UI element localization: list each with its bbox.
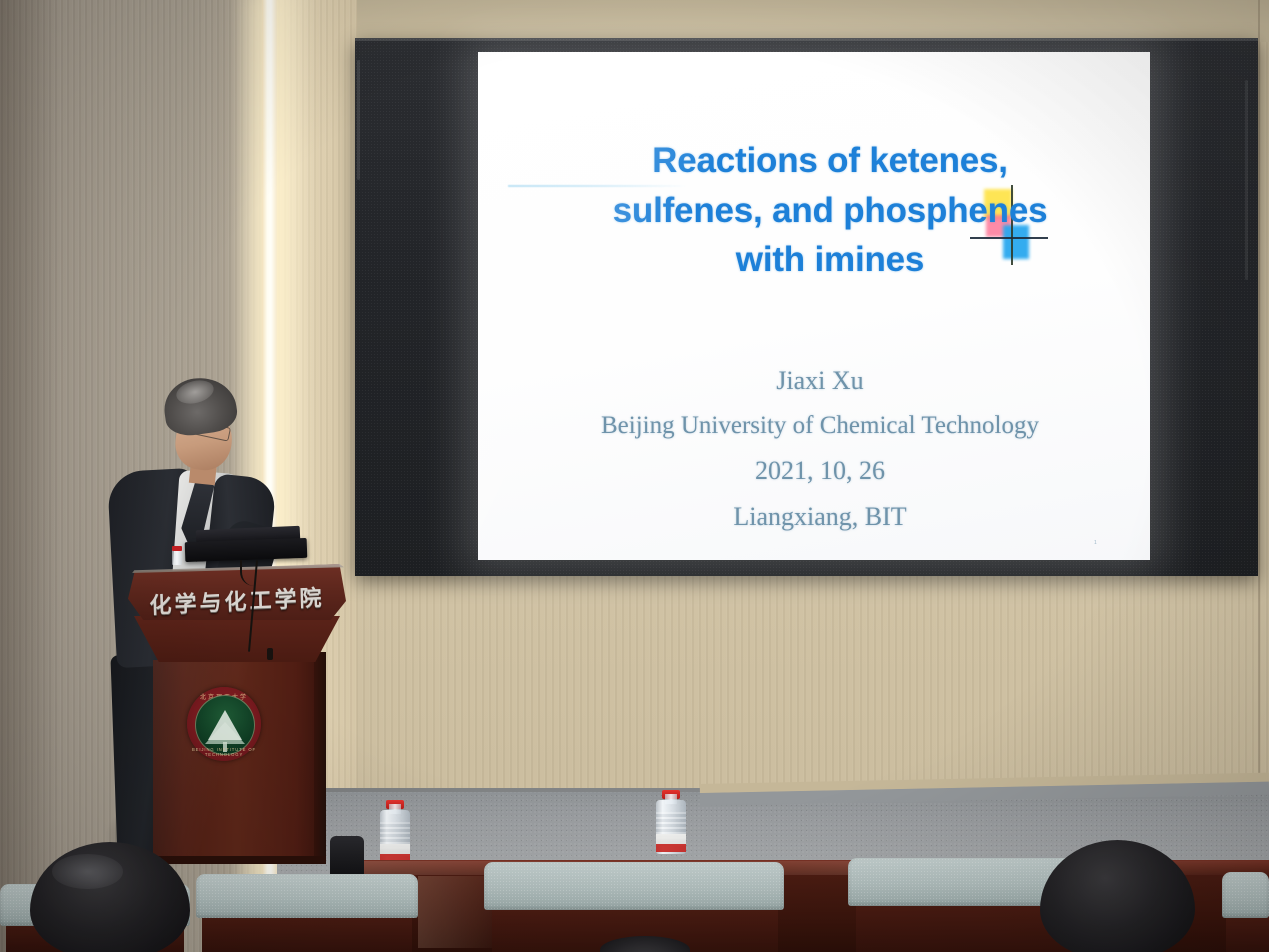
audience-chair-back (196, 874, 418, 918)
emblem-inner-field (195, 695, 255, 755)
podium-base-foot (153, 856, 326, 864)
bezel-right-highlight (1245, 80, 1248, 280)
slide-affiliation: Beijing University of Chemical Technolog… (520, 404, 1120, 448)
audience-shoulder (330, 836, 364, 876)
podium-top-face: 化学与化工学院 (128, 564, 346, 620)
wall-panel-seam (1258, 0, 1260, 800)
lecture-hall-photo: Reactions of ketenes, sulfenes, and phos… (0, 0, 1269, 952)
slide-location: Liangxiang, BIT (520, 494, 1120, 540)
water-bottle-left (380, 800, 410, 864)
left-wall-shadow (0, 0, 60, 952)
slide-page-number: 1 (1094, 540, 1097, 546)
slide-subtitle-block: Jiaxi Xu Beijing University of Chemical … (520, 358, 1120, 539)
slide-title: Reactions of ketenes, sulfenes, and phos… (540, 136, 1120, 285)
chair-seat-shadow (1226, 914, 1269, 952)
emblem-tree-upper-icon (208, 710, 242, 740)
lectern-podium: 化学与化工学院 北京理工大学 BEIJING INSTITUTE OF TECH… (128, 556, 346, 866)
bit-university-emblem-icon: 北京理工大学 BEIJING INSTITUTE OF TECHNOLOGY (187, 687, 261, 761)
podium-side-panel (314, 652, 326, 864)
podium-cable-plug (267, 648, 273, 660)
podium-department-text: 化学与化工学院 (142, 580, 333, 621)
bezel-left-highlight (357, 60, 360, 180)
podium-bevel (134, 616, 340, 662)
slide-author-name: Jiaxi Xu (520, 358, 1120, 404)
emblem-english-arc-text: BEIJING INSTITUTE OF TECHNOLOGY (187, 747, 261, 757)
bezel-top-highlight (355, 38, 1258, 41)
back-wall-top-band (355, 0, 1269, 42)
slide-title-line-1: Reactions of ketenes, (540, 136, 1120, 186)
slide-title-line-2: sulfenes, and phosphenes (540, 186, 1120, 236)
slide-date: 2021, 10, 26 (520, 448, 1120, 494)
audience-chair-back (484, 862, 784, 910)
bottle-label-red-band (656, 844, 686, 852)
audience-chair-back (1222, 872, 1269, 918)
water-bottle-right (656, 790, 686, 854)
chair-seat-shadow (202, 912, 412, 952)
podium-small-bottle-cap (172, 546, 182, 551)
slide-title-line-3: with imines (540, 235, 1120, 285)
